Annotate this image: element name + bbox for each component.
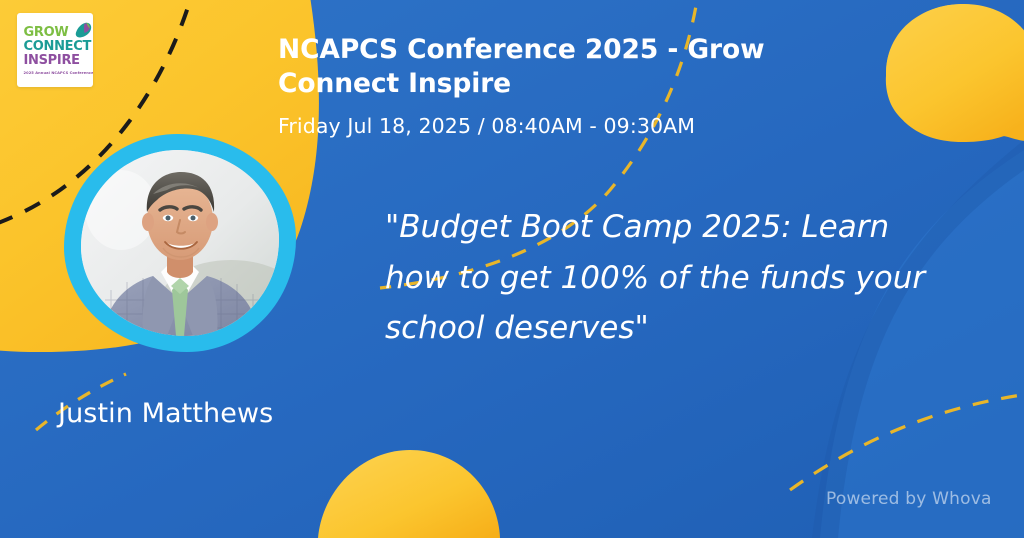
session-banner: GROW CONNECT INSPIRE 2025 Annual NCAPCS … bbox=[0, 0, 1024, 538]
logo-tagline: 2025 Annual NCAPCS Conference bbox=[24, 71, 94, 75]
conference-logo: GROW CONNECT INSPIRE 2025 Annual NCAPCS … bbox=[17, 13, 93, 87]
photo-frame bbox=[81, 150, 279, 336]
logo-line-connect: CONNECT bbox=[24, 40, 92, 53]
globe-leaf-icon bbox=[70, 21, 92, 41]
avatar bbox=[81, 150, 279, 336]
powered-by-label: Powered by Whova bbox=[826, 489, 992, 509]
session-title: NCAPCS Conference 2025 - Grow Connect In… bbox=[278, 33, 818, 102]
logo-line-inspire: INSPIRE bbox=[24, 54, 80, 67]
logo-line-grow: GROW bbox=[24, 26, 69, 39]
session-topic: "Budget Boot Camp 2025: Learn how to get… bbox=[385, 202, 930, 354]
session-datetime: Friday Jul 18, 2025 / 08:40AM - 09:30AM bbox=[278, 114, 838, 139]
speaker-photo bbox=[64, 134, 296, 352]
speaker-name: Justin Matthews bbox=[58, 398, 273, 429]
